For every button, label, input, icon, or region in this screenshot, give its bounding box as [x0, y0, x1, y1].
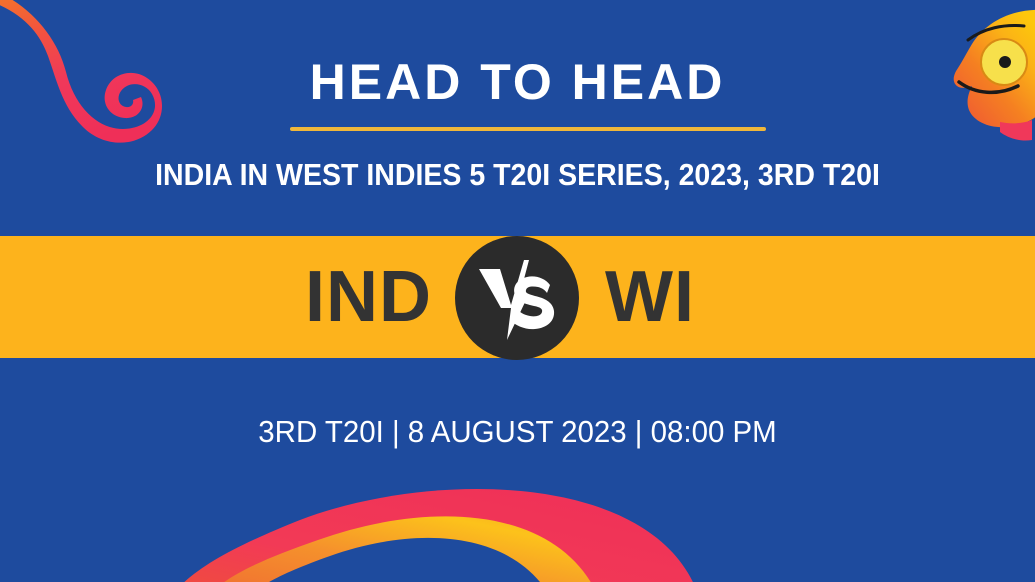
team-right-code: WI: [595, 236, 1035, 358]
swoosh-arc-orange: [205, 516, 600, 582]
versus-badge: [455, 236, 579, 360]
versus-bolt-icon: [455, 236, 579, 360]
swoosh-arc-pink: [168, 489, 700, 582]
page-title: HEAD TO HEAD: [0, 52, 1035, 112]
head-to-head-poster: HEAD TO HEAD INDIA IN WEST INDIES 5 T20I…: [0, 0, 1035, 582]
series-subtitle: INDIA IN WEST INDIES 5 T20I SERIES, 2023…: [41, 155, 993, 195]
title-divider-rule: [290, 127, 766, 131]
swoosh-arc-inner-cut: [245, 538, 552, 582]
header-block: HEAD TO HEAD INDIA IN WEST INDIES 5 T20I…: [0, 0, 1035, 236]
match-info-footer: 3RD T20I | 8 AUGUST 2023 | 08:00 PM: [26, 410, 1009, 454]
team-left-code: IND: [0, 236, 440, 358]
